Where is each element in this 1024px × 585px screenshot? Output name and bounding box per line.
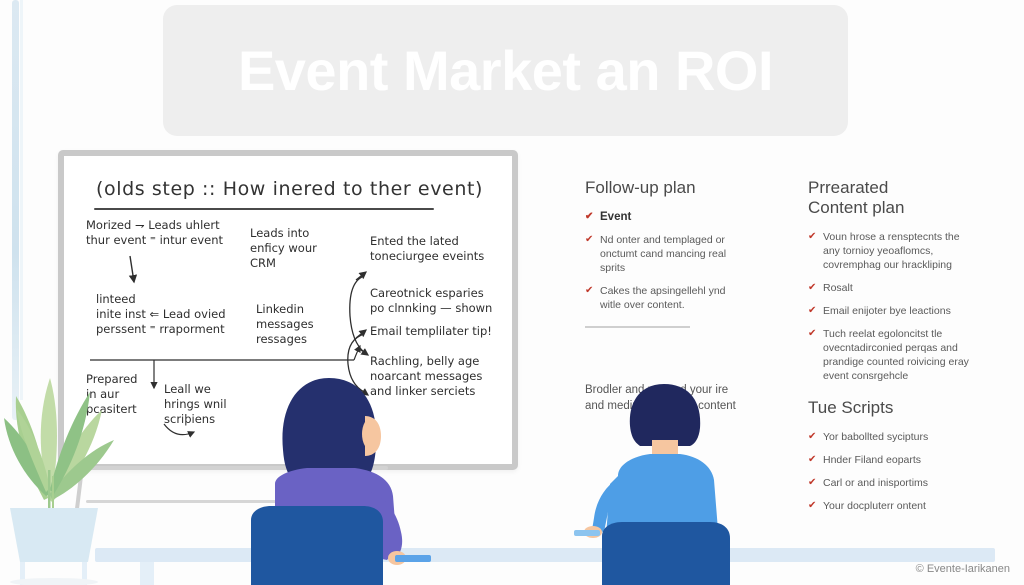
whiteboard-note-8: Careotnick esparies po clnnking — shown bbox=[370, 286, 492, 316]
list-item-label: Email enijoter bye leactions bbox=[823, 305, 951, 317]
check-icon: ✔ bbox=[808, 304, 816, 318]
desk-leg-left bbox=[140, 562, 154, 585]
plant-pot bbox=[10, 508, 98, 562]
list-item-label: Yor babollted sycipturs bbox=[823, 431, 928, 443]
man-chair bbox=[602, 522, 730, 585]
plant-leaves bbox=[4, 378, 114, 512]
list-item-label: Voun hrose a rensptecnts the any tornioy… bbox=[823, 231, 960, 271]
list-item: ✔ Nd onter and templaged or onctumt cand… bbox=[585, 233, 740, 275]
credit-watermark: © Evente-Iarikanen bbox=[916, 563, 1010, 575]
whiteboard-note-5: Leads into enficy wour CRM bbox=[250, 226, 317, 271]
check-icon: ✔ bbox=[808, 327, 816, 341]
whiteboard-note-9: Email templilater tip! bbox=[370, 324, 492, 339]
bullet-list-tue-scripts: ✔ Yor babollted sycipturs ✔ Hnder Filand… bbox=[808, 430, 978, 513]
check-icon: ✔ bbox=[808, 453, 816, 467]
check-icon: ✔ bbox=[808, 430, 816, 444]
panel-heading-prepared-content-plan: Prrearated Content plan bbox=[808, 178, 978, 218]
list-item: ✔ Cakes the apsingellehl ynd witle over … bbox=[585, 284, 740, 312]
list-item: ✔ Event bbox=[585, 210, 740, 224]
whiteboard-note-7: Ented the lated toneciurgee eveints bbox=[370, 234, 484, 264]
whiteboard-heading: (olds step :: How inered to ther event) bbox=[96, 178, 483, 200]
list-item: ✔ Rosalt bbox=[808, 281, 978, 295]
list-item: ✔ Yor babollted sycipturs bbox=[808, 430, 978, 444]
person-woman-seated bbox=[245, 372, 445, 585]
list-item: ✔ Your docpluterr ontent bbox=[808, 499, 978, 513]
check-icon: ✔ bbox=[808, 499, 816, 513]
panel-follow-up-plan: Follow-up plan ✔ Event ✔ Nd onter and te… bbox=[585, 178, 740, 328]
panel-heading-follow-up-plan: Follow-up plan bbox=[585, 178, 740, 198]
person-man-seated bbox=[570, 380, 750, 585]
list-item-label: Hnder Filand eoparts bbox=[823, 454, 921, 466]
check-icon: ✔ bbox=[585, 210, 593, 224]
title-banner: Event Market an ROI bbox=[163, 5, 848, 136]
list-item-label: Cakes the apsingellehl ynd witle over co… bbox=[600, 285, 726, 311]
desk-bench bbox=[95, 548, 995, 562]
whiteboard-heading-underline bbox=[94, 208, 434, 210]
potted-plant bbox=[0, 330, 116, 585]
list-item: ✔ Email enijoter bye leactions bbox=[808, 304, 978, 318]
list-item-label: Carl or and inisportims bbox=[823, 477, 928, 489]
bullet-list-follow-up-plan: ✔ Event ✔ Nd onter and templaged or onct… bbox=[585, 210, 740, 312]
woman-chair bbox=[251, 506, 383, 585]
list-item-label: Rosalt bbox=[823, 282, 853, 294]
check-icon: ✔ bbox=[808, 230, 816, 244]
list-item: ✔ Tuch reelat egoloncitst tle ovecntadir… bbox=[808, 327, 978, 383]
scene-background: Event Market an ROI (olds step :: How in… bbox=[0, 0, 1024, 585]
man-tablet bbox=[574, 530, 600, 536]
list-item-label: Your docpluterr ontent bbox=[823, 500, 926, 512]
whiteboard-note-6: Linkedin messages ressages bbox=[256, 302, 314, 347]
check-icon: ✔ bbox=[808, 476, 816, 490]
bullet-list-prepared-content-plan: ✔ Voun hrose a rensptecnts the any torni… bbox=[808, 230, 978, 383]
list-item: ✔ Hnder Filand eoparts bbox=[808, 453, 978, 467]
list-item: ✔ Voun hrose a rensptecnts the any torni… bbox=[808, 230, 978, 272]
page-title: Event Market an ROI bbox=[238, 43, 773, 99]
check-icon: ✔ bbox=[808, 281, 816, 295]
panel-tue-scripts: Tue Scripts ✔ Yor babollted sycipturs ✔ … bbox=[808, 398, 978, 522]
panel-heading-tue-scripts: Tue Scripts bbox=[808, 398, 978, 418]
list-item-label: Nd onter and templaged or onctumt cand m… bbox=[600, 234, 726, 274]
whiteboard-note-1: Morized ⇁ Leads uhlert thur event ⁼ intu… bbox=[86, 218, 223, 248]
woman-tablet bbox=[395, 555, 431, 562]
list-item-label: Tuch reelat egoloncitst tle ovecntadirco… bbox=[823, 328, 969, 382]
panel-prepared-content-plan: Prrearated Content plan ✔ Voun hrose a r… bbox=[808, 178, 978, 392]
whiteboard-note-4: Leall we hrings wnil scriþiens bbox=[164, 382, 227, 427]
panel-divider bbox=[585, 326, 690, 328]
woman-hair bbox=[282, 378, 376, 480]
list-item: ✔ Carl or and inisportims bbox=[808, 476, 978, 490]
check-icon: ✔ bbox=[585, 233, 593, 247]
check-icon: ✔ bbox=[585, 284, 593, 298]
man-hair bbox=[630, 384, 700, 446]
list-item-label: Event bbox=[600, 211, 631, 223]
